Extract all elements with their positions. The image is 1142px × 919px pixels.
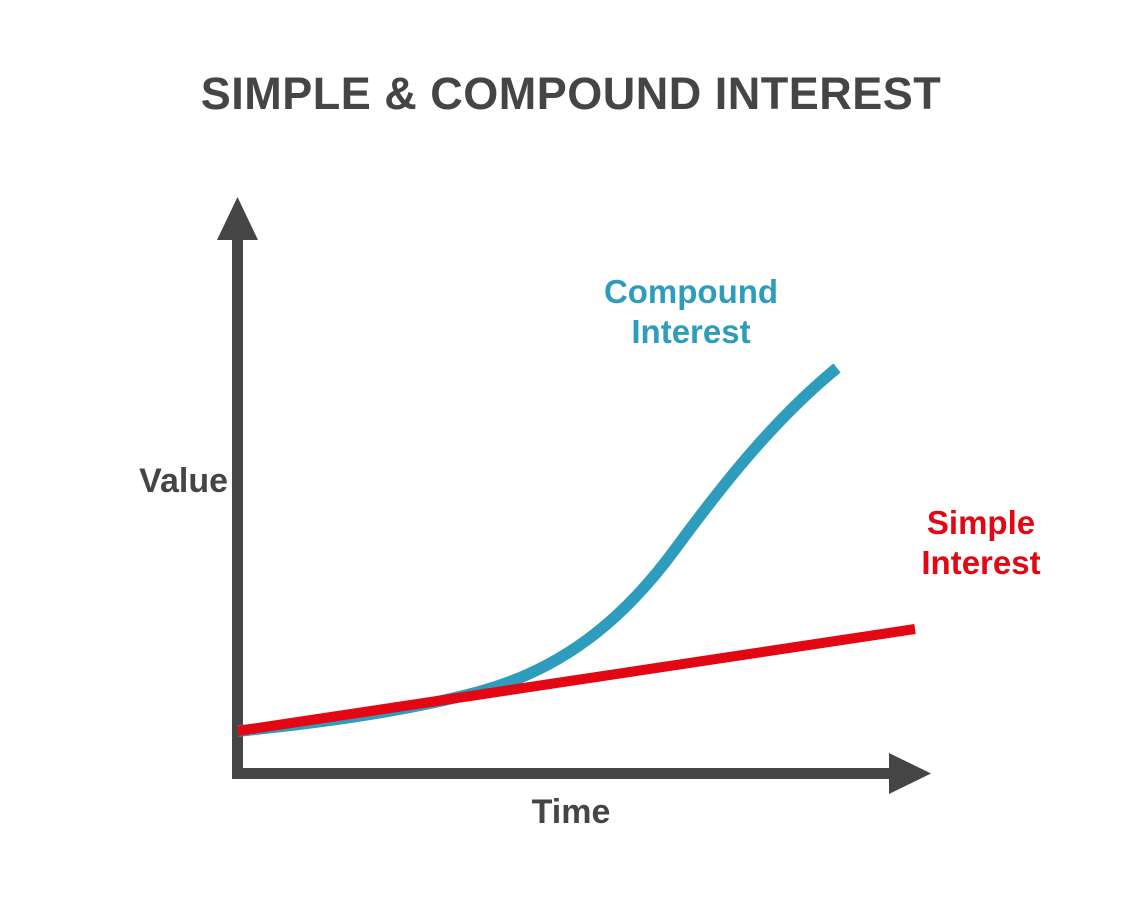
simple-interest-label-line1: Simple (890, 503, 1072, 543)
x-axis-arrow-icon (889, 753, 931, 794)
simple-interest-label-line2: Interest (890, 543, 1072, 583)
simple-interest-label: Simple Interest (890, 503, 1072, 584)
plot-area (0, 0, 1142, 919)
x-axis-label: Time (0, 793, 1142, 832)
y-axis-label: Value (139, 462, 228, 501)
chart-figure: SIMPLE & COMPOUND INTEREST Value Time Co… (0, 0, 1142, 919)
x-axis (232, 753, 931, 794)
y-axis-arrow-icon (217, 197, 258, 240)
compound-interest-label-line2: Interest (572, 312, 810, 352)
compound-interest-curve (238, 368, 837, 731)
compound-interest-label: Compound Interest (572, 272, 810, 353)
compound-interest-label-line1: Compound (572, 272, 810, 312)
